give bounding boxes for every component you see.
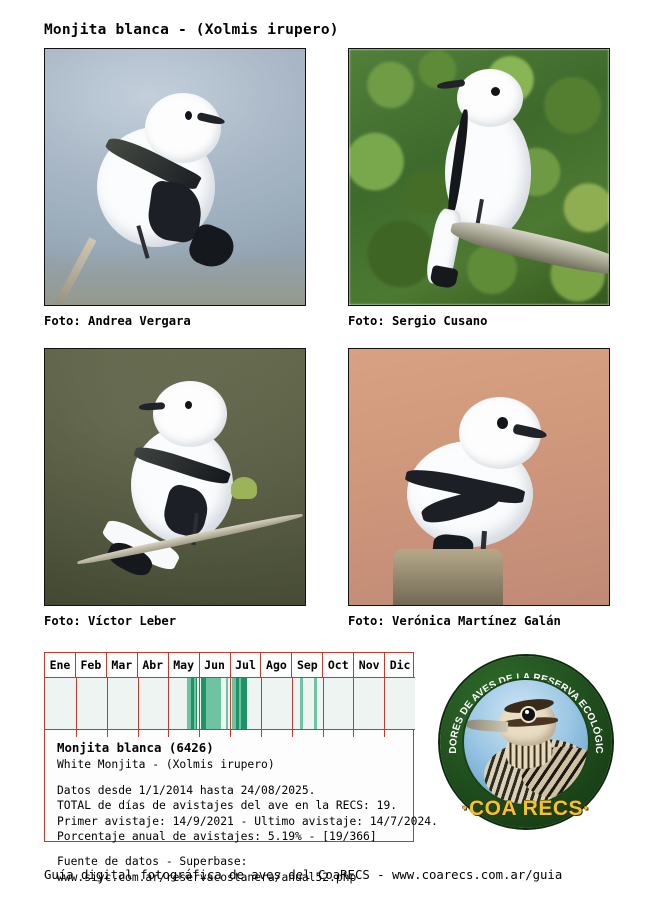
species-info-block: Monjita blanca (6426) White Monjita - (X…	[57, 739, 407, 885]
photo-frame-sergio-cusano[interactable]	[348, 48, 610, 306]
photo-frame-victor-leber[interactable]	[44, 348, 306, 606]
species-english-name: White Monjita - (Xolmis irupero)	[57, 757, 407, 773]
calendar-month-mar[interactable]: Mar	[107, 653, 138, 678]
calendar-footer-rule	[45, 730, 415, 737]
photo-frame-veronica-martinez-galan[interactable]	[348, 348, 610, 606]
leaf-bud	[231, 477, 257, 499]
calendar-month-label: Nov	[359, 658, 380, 672]
calendar-month-ene[interactable]: Ene	[45, 653, 76, 678]
calendar-month-divider	[138, 730, 139, 737]
calendar-month-oct[interactable]: Oct	[323, 653, 354, 678]
calendar-month-divider	[384, 678, 385, 729]
photo-caption-3: Foto: Víctor Leber	[44, 614, 308, 628]
calendar-month-divider	[199, 730, 200, 737]
sighting-bar	[218, 678, 221, 729]
bird-head	[145, 93, 221, 163]
total-sighting-days: TOTAL de días de avistajes del ave en la…	[57, 798, 407, 814]
page-title: Monjita blanca - (Xolmis irupero)	[44, 22, 339, 38]
calendar-month-label: Dic	[390, 658, 411, 672]
photo-caption-4: Foto: Verónica Martínez Galán	[348, 614, 612, 628]
first-last-sighting: Primer avistaje: 14/9/2021 - Ultimo avis…	[57, 814, 407, 830]
calendar-month-divider	[292, 678, 293, 729]
calendar-month-label: May	[173, 658, 194, 672]
calendar-month-may[interactable]: May	[169, 653, 200, 678]
photo-cell-1: Foto: Andrea Vergara	[44, 48, 308, 328]
photo-caption-2: Foto: Sergio Cusano	[348, 314, 612, 328]
logo-bottom-text: ·COA RECS·	[440, 797, 612, 821]
calendar-month-header-row: EneFebMarAbrMayJunJulAgoSepOctNovDic	[45, 653, 415, 678]
calendar-month-divider	[353, 678, 354, 729]
calendar-month-label: Feb	[80, 658, 101, 672]
sightings-calendar-panel: EneFebMarAbrMayJunJulAgoSepOctNovDic Mon…	[44, 652, 414, 842]
calendar-sightings-plot[interactable]	[45, 678, 415, 730]
calendar-month-jul[interactable]: Jul	[231, 653, 262, 678]
calendar-month-label: Abr	[142, 658, 163, 672]
sighting-bar	[241, 678, 247, 729]
logo-bird-eye	[522, 708, 535, 721]
species-name: Monjita blanca (6426)	[57, 739, 407, 757]
calendar-month-sep[interactable]: Sep	[292, 653, 323, 678]
calendar-month-divider	[261, 678, 262, 729]
bird-eye	[497, 417, 508, 429]
calendar-month-divider	[230, 678, 231, 729]
calendar-month-nov[interactable]: Nov	[354, 653, 385, 678]
bird-eye	[185, 401, 192, 409]
calendar-month-divider	[292, 730, 293, 737]
calendar-month-abr[interactable]: Abr	[138, 653, 169, 678]
calendar-month-divider	[261, 730, 262, 737]
sighting-bar	[314, 678, 317, 729]
coarecs-logo[interactable]: CLUB DE OBSERVADORES DE AVES DE LA RESER…	[440, 656, 612, 828]
page-footer: Guía digital fotográfica de aves del Coa…	[44, 868, 624, 882]
calendar-month-divider	[230, 730, 231, 737]
calendar-month-label: Ene	[50, 658, 71, 672]
photo-cell-2: Foto: Sergio Cusano	[348, 48, 612, 328]
data-date-range: Datos desde 1/1/2014 hasta 24/08/2025.	[57, 783, 407, 799]
calendar-month-divider	[107, 678, 108, 729]
logo-bird-illustration	[464, 680, 588, 804]
photo-cell-4: Foto: Verónica Martínez Galán	[348, 348, 612, 628]
calendar-month-divider	[107, 730, 108, 737]
calendar-month-divider	[199, 678, 200, 729]
logo-bird-beak	[466, 719, 509, 733]
bird-head	[153, 381, 227, 447]
calendar-month-label: Sep	[297, 658, 318, 672]
calendar-month-jun[interactable]: Jun	[200, 653, 231, 678]
calendar-month-feb[interactable]: Feb	[76, 653, 107, 678]
calendar-month-divider	[384, 730, 385, 737]
calendar-month-divider	[323, 730, 324, 737]
sightings-calendar: EneFebMarAbrMayJunJulAgoSepOctNovDic	[45, 653, 415, 737]
calendar-month-divider	[76, 678, 77, 729]
bird-eye	[491, 87, 500, 96]
sighting-bar	[300, 678, 303, 729]
calendar-month-label: Mar	[111, 658, 132, 672]
photo-frame-andrea-vergara[interactable]	[44, 48, 306, 306]
sighting-bar	[226, 678, 229, 729]
calendar-month-divider	[76, 730, 77, 737]
calendar-month-divider	[168, 678, 169, 729]
photo-cell-3: Foto: Víctor Leber	[44, 348, 308, 628]
calendar-month-label: Jul	[235, 658, 256, 672]
calendar-month-dic[interactable]: Dic	[385, 653, 415, 678]
photo-caption-1: Foto: Andrea Vergara	[44, 314, 308, 328]
logo-inner-disc	[462, 678, 590, 806]
calendar-month-label: Ago	[266, 658, 287, 672]
calendar-month-divider	[353, 730, 354, 737]
annual-percentage: Porcentaje anual de avistajes: 5.19% - […	[57, 829, 407, 845]
calendar-month-divider	[168, 730, 169, 737]
calendar-month-label: Jun	[204, 658, 225, 672]
sighting-bar	[194, 678, 197, 729]
calendar-month-label: Oct	[328, 658, 349, 672]
bird-eye	[185, 111, 192, 120]
calendar-month-ago[interactable]: Ago	[261, 653, 292, 678]
fence-post	[393, 549, 503, 606]
calendar-month-divider	[323, 678, 324, 729]
calendar-month-divider	[138, 678, 139, 729]
